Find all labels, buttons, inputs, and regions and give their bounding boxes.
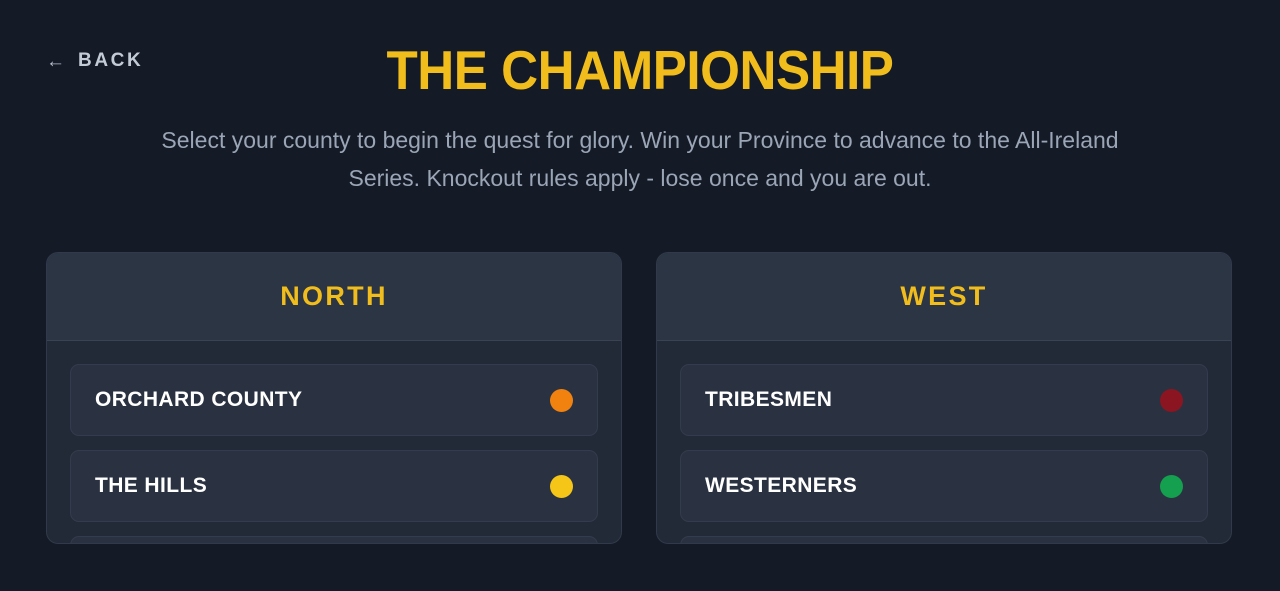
county-color-dot: [550, 475, 573, 498]
province-title: WEST: [900, 281, 987, 312]
province-header: NORTH: [47, 253, 621, 341]
province-header: WEST: [657, 253, 1231, 341]
page-title: THE CHAMPIONSHIP: [45, 42, 1235, 98]
page-subtitle: Select your county to begin the quest fo…: [160, 112, 1120, 197]
county-name: THE HILLS: [95, 474, 207, 498]
county-color-dot: [550, 389, 573, 412]
page-header: ← BACK THE CHAMPIONSHIP: [0, 0, 1280, 112]
province-card-west: WEST TRIBESMEN WESTERNERS: [656, 252, 1232, 544]
county-list: TRIBESMEN WESTERNERS: [657, 341, 1231, 544]
province-grid: NORTH ORCHARD COUNTY THE HILLS WEST: [46, 252, 1234, 544]
county-color-dot: [1160, 389, 1183, 412]
county-row[interactable]: ORCHARD COUNTY: [70, 364, 598, 436]
province-card-north: NORTH ORCHARD COUNTY THE HILLS: [46, 252, 622, 544]
county-name: WESTERNERS: [705, 474, 857, 498]
county-list: ORCHARD COUNTY THE HILLS: [47, 341, 621, 544]
county-row[interactable]: TRIBESMEN: [680, 364, 1208, 436]
county-selection-screen: ← BACK THE CHAMPIONSHIP Select your coun…: [0, 0, 1280, 591]
county-name: TRIBESMEN: [705, 388, 832, 412]
county-row[interactable]: WESTERNERS: [680, 450, 1208, 522]
county-row[interactable]: THE HILLS: [70, 450, 598, 522]
province-title: NORTH: [280, 281, 388, 312]
county-row[interactable]: [680, 536, 1208, 544]
county-name: ORCHARD COUNTY: [95, 388, 302, 412]
county-color-dot: [1160, 475, 1183, 498]
county-row[interactable]: [70, 536, 598, 544]
